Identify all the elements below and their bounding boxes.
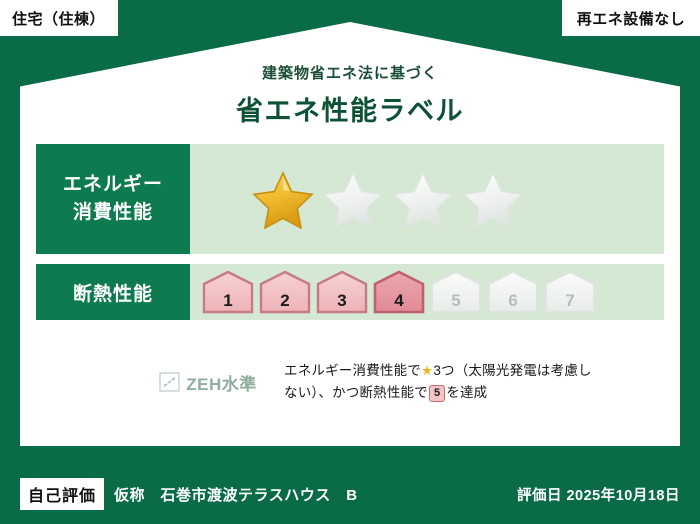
insulation-level-scale: 1 2 3 4 bbox=[202, 270, 596, 314]
insulation-level-3: 3 bbox=[316, 270, 368, 314]
insulation-level-1: 1 bbox=[202, 270, 254, 314]
zeh-note-level-chip: 5 bbox=[429, 385, 445, 402]
insulation-performance-body: 1 2 3 4 bbox=[190, 264, 664, 320]
star-empty-3 bbox=[392, 170, 454, 229]
insulation-level-3-number: 3 bbox=[316, 292, 368, 309]
label-subtitle: 建築物省エネ法に基づく bbox=[0, 62, 700, 83]
evaluation-date: 評価日 2025年10月18日 bbox=[517, 484, 680, 505]
zeh-note-block: ZEH水準 エネルギー消費性能で★3つ（太陽光発電は考慮しない）、かつ断熱性能で… bbox=[36, 360, 664, 405]
zeh-note-text: エネルギー消費性能で★3つ（太陽光発電は考慮しない）、かつ断熱性能で5を達成 bbox=[284, 360, 594, 405]
insulation-performance-label: 断熱性能 bbox=[36, 264, 190, 320]
star-empty-4 bbox=[462, 170, 524, 229]
energy-performance-label: エネルギー 消費性能 bbox=[36, 144, 190, 254]
zeh-house-icon bbox=[159, 372, 180, 392]
energy-performance-body bbox=[190, 144, 664, 254]
insulation-level-2-number: 2 bbox=[259, 292, 311, 309]
energy-performance-row: エネルギー 消費性能 bbox=[36, 144, 664, 254]
insulation-level-4-number: 4 bbox=[373, 292, 425, 309]
insulation-level-7-number: 7 bbox=[544, 292, 596, 309]
zeh-note-part3: を達成 bbox=[446, 385, 487, 400]
insulation-level-7: 7 bbox=[544, 270, 596, 314]
heading-block: 建築物省エネ法に基づく 省エネ性能ラベル bbox=[0, 62, 700, 128]
star-empty-2 bbox=[322, 170, 384, 229]
insulation-level-4-achieved: 4 bbox=[373, 270, 425, 314]
insulation-level-1-number: 1 bbox=[202, 292, 254, 309]
insulation-level-5-number: 5 bbox=[430, 292, 482, 309]
energy-performance-label: 住宅（住棟） 再エネ設備なし 建築物省エネ法に基づく 省エネ性能ラベル エネルギ… bbox=[0, 0, 700, 524]
building-type-tag: 住宅（住棟） bbox=[0, 0, 118, 36]
project-name: 仮称 石巻市渡波テラスハウス B bbox=[114, 484, 358, 505]
zeh-badge: ZEH水準 bbox=[148, 370, 268, 395]
page-title: 省エネ性能ラベル bbox=[0, 89, 700, 128]
self-evaluation-badge: 自己評価 bbox=[20, 478, 104, 510]
zeh-note-part1: エネルギー消費性能で bbox=[284, 363, 421, 378]
insulation-level-6-number: 6 bbox=[487, 292, 539, 309]
energy-label-line2: 消費性能 bbox=[73, 199, 153, 227]
star-rating bbox=[252, 170, 524, 229]
renewable-equipment-tag: 再エネ設備なし bbox=[562, 0, 700, 36]
zeh-note-star-icon: ★ bbox=[421, 363, 433, 378]
insulation-level-6: 6 bbox=[487, 270, 539, 314]
insulation-performance-row: 断熱性能 bbox=[36, 264, 664, 320]
energy-label-line1: エネルギー bbox=[63, 171, 163, 199]
star-filled-1 bbox=[252, 170, 314, 229]
zeh-badge-label: ZEH水準 bbox=[186, 370, 257, 395]
insulation-level-2: 2 bbox=[259, 270, 311, 314]
footer: 自己評価 仮称 石巻市渡波テラスハウス B 評価日 2025年10月18日 bbox=[0, 464, 700, 524]
insulation-level-5: 5 bbox=[430, 270, 482, 314]
